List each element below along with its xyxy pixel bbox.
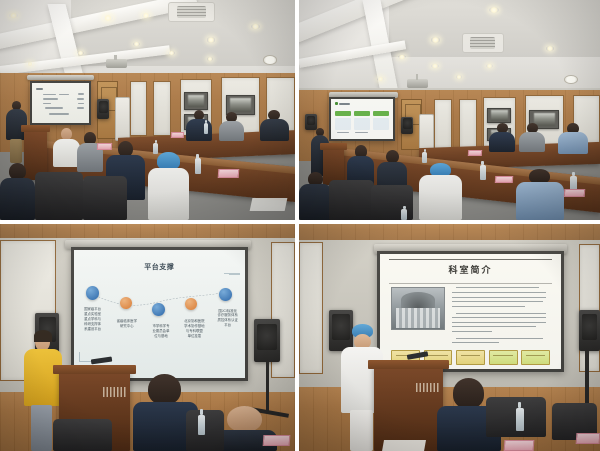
attendee-head (453, 378, 485, 409)
wall-panel (579, 244, 600, 371)
timeline-node-5 (219, 288, 232, 301)
air-conditioner-vent (168, 2, 215, 22)
downlight-icon (207, 37, 216, 42)
paragraph-line (452, 326, 535, 327)
downlight-icon (103, 15, 112, 21)
attendee-back-blue-cap (419, 163, 461, 220)
paper-document (249, 198, 287, 211)
attendee-back (53, 128, 80, 168)
water-bottle (195, 158, 201, 173)
water-bottle (422, 152, 427, 163)
screen-case (27, 75, 95, 81)
title-rule-bottom (389, 283, 552, 284)
downlight-icon (486, 64, 493, 68)
column-body (354, 118, 370, 130)
slide-text-list (32, 83, 90, 123)
slide-department-intro: 科室简介 (380, 254, 561, 368)
chair (329, 180, 374, 220)
attendee-back (516, 169, 564, 220)
podium-top (368, 360, 449, 369)
paper-document (382, 440, 426, 451)
podium-logo (103, 387, 127, 396)
column-body (335, 118, 351, 130)
ceiling-projector (106, 59, 127, 68)
water-bottle (480, 165, 486, 180)
paragraph-line (456, 287, 539, 288)
downlight-icon (456, 75, 463, 79)
downlight-icon (168, 51, 175, 55)
water-bottle (153, 143, 158, 154)
certificate-thumbnail (521, 350, 550, 365)
corner-mark (229, 270, 239, 275)
wall-panel (153, 81, 171, 136)
downlight-icon (377, 77, 384, 81)
paragraph-line (452, 297, 546, 298)
slide-three-columns (331, 99, 393, 139)
photo-collage: 平台支撑 国家级平台重点实验室重点学科与科研支撑体系建设平台 (0, 0, 600, 451)
name-card (564, 189, 586, 197)
attendee-back (0, 163, 35, 220)
ceiling-projector (407, 79, 428, 88)
water-bottle (401, 209, 407, 220)
attendee (260, 110, 290, 141)
paragraph-line (452, 331, 492, 332)
certificate-thumbnail (489, 350, 518, 365)
water-bottle (198, 415, 206, 435)
group-photo (391, 287, 445, 329)
attendee-head (148, 374, 180, 405)
water-bottle (204, 123, 209, 134)
name-card (467, 150, 481, 156)
name-card (576, 433, 600, 444)
downlight-icon (431, 64, 438, 68)
paragraph-line (452, 342, 499, 343)
attendee (489, 123, 516, 152)
surgical-cap (157, 152, 179, 170)
timeline-node-2 (120, 297, 132, 309)
framed-artwork (184, 92, 208, 110)
chair (371, 185, 413, 220)
air-conditioner-vent (462, 33, 504, 53)
projection-screen: 科室简介 (377, 251, 564, 371)
attendee-back (77, 132, 104, 172)
timeline-node-1 (86, 286, 100, 300)
podium-top (53, 365, 136, 374)
column-header (354, 111, 370, 116)
water-bottle (516, 408, 524, 431)
speaker-stand (585, 351, 589, 405)
downlight-icon (431, 37, 440, 42)
paragraph-line (452, 306, 524, 307)
slide-title: 科室简介 (380, 263, 561, 276)
speaker-legs (350, 410, 374, 451)
wall-panel (434, 99, 452, 150)
attendee-head (227, 406, 262, 432)
certificate-thumbnail (456, 350, 485, 365)
column-header (373, 111, 389, 116)
projection-screen (329, 97, 395, 141)
wall-panel (459, 99, 477, 150)
photo-top-left (0, 0, 298, 222)
attendee-back (299, 172, 332, 220)
paragraph-line (452, 292, 546, 293)
cabinet (115, 97, 130, 141)
attendee (186, 110, 213, 141)
timeline-node-label-4: 北京协和医院学术协作基地与专科联盟单位挂靠 (176, 319, 212, 339)
paragraph-line (456, 338, 543, 339)
attendee (218, 112, 245, 141)
wall-panel (299, 242, 323, 374)
chair (53, 419, 112, 451)
paragraph-line (456, 313, 546, 314)
projection-screen (30, 81, 92, 125)
chair (186, 410, 224, 451)
framed-artwork (487, 108, 511, 123)
downlight-icon (27, 62, 33, 66)
pa-speaker (579, 310, 600, 351)
timeline-node-label-1: 国家级平台重点实验室重点学科与科研支撑体系建设平台 (76, 307, 110, 332)
podium-top (320, 143, 347, 150)
downlight-icon (77, 51, 84, 55)
wood-trim-top (0, 224, 295, 238)
speaker-jacket (24, 349, 62, 407)
photo-bottom-right: 科室简介 (298, 222, 600, 451)
timeline-node-label-3: 市学科学专业委员会单位与基地 (144, 324, 178, 339)
timeline-node-3 (152, 303, 165, 316)
name-card (262, 435, 289, 446)
wall-panel (130, 81, 148, 136)
slide-title: 平台支撑 (74, 262, 245, 272)
wall-clock-icon (564, 75, 578, 84)
podium (374, 365, 443, 451)
speaker-legs (31, 405, 52, 451)
name-card (494, 176, 513, 183)
timeline-node-label-2: 省级临床医学研究中心 (110, 319, 144, 329)
name-card (503, 440, 534, 451)
name-card (171, 132, 185, 138)
pa-speaker (97, 99, 109, 119)
chair (83, 176, 127, 220)
wood-trim-top (299, 224, 600, 240)
photo-top-right (298, 0, 600, 222)
column-body (373, 118, 389, 130)
name-card (218, 169, 239, 178)
name-card (97, 143, 112, 150)
timeline-node-label-5: 国JCI标准化诊疗服务体系质控体系认证平台 (211, 309, 245, 329)
chair (35, 172, 82, 220)
pa-speaker (401, 117, 413, 135)
paragraph-line (452, 317, 546, 318)
column-header (335, 111, 351, 116)
pa-speaker (254, 319, 281, 362)
slide-header-bar (335, 102, 338, 105)
title-rule-top (389, 259, 552, 260)
attendee-back-blue-cap (148, 152, 189, 220)
attendee (558, 123, 588, 154)
paragraph-line (452, 322, 546, 323)
photo-bottom-left: 平台支撑 国家级平台重点实验室重点学科与科研支撑体系建设平台 (0, 222, 298, 451)
podium-top (21, 125, 51, 132)
cabinet (419, 114, 434, 151)
attendee (519, 123, 546, 152)
paragraph-line (452, 301, 542, 302)
